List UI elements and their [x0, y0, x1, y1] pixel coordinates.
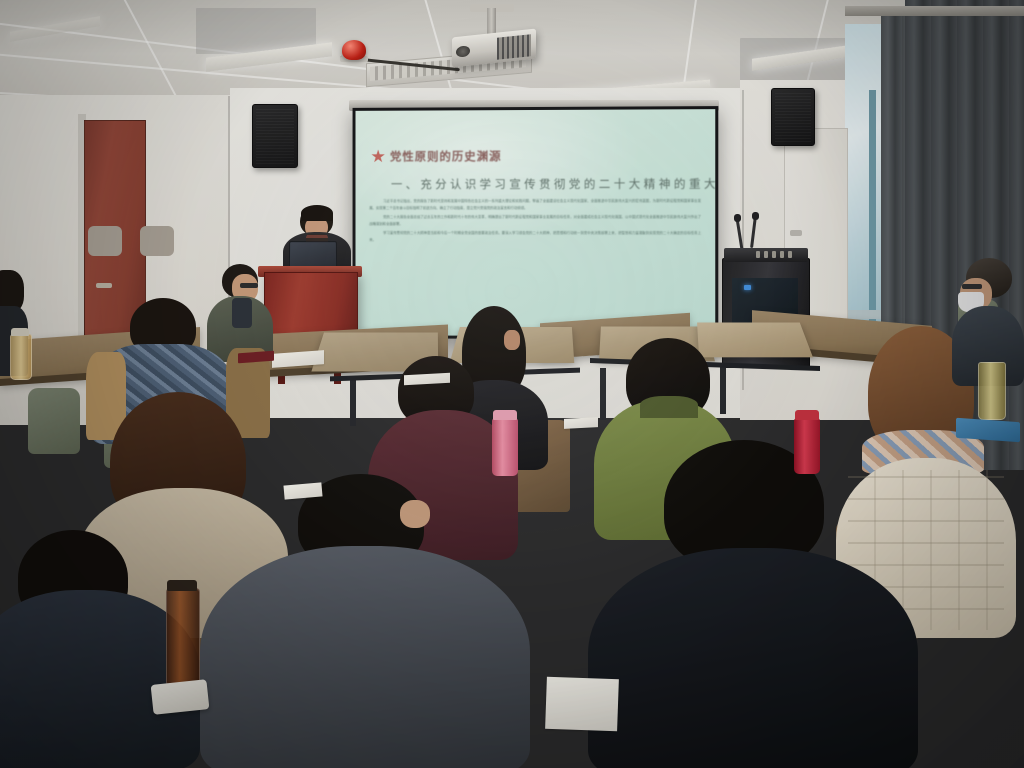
- table-leg: [720, 364, 726, 414]
- folding-table-panel-far-right: [697, 322, 813, 357]
- mixer-fader-3[interactable]: [772, 251, 776, 258]
- slide-body-text: 习近平总书记指出，党的报告了新时代坚持和发展中国特色社会主义的一系列重大理论和实…: [369, 198, 701, 247]
- slide-paragraph: 学习宣传贯彻党的二十大精神是当前和今后一个时期全党全国的首要政治任务。要深入学习…: [369, 230, 701, 243]
- tea-bottle-pink-center[interactable]: [492, 418, 518, 476]
- tea-bottle-foreground[interactable]: [166, 588, 200, 686]
- meeting-room-photograph: 党性原则的历史渊源 一、充分认识学习宣传贯彻党的二十大精神的重大意义 习近平总书…: [0, 0, 1024, 768]
- wall-speaker-right: [771, 88, 815, 146]
- face-profile: [400, 500, 430, 528]
- slide-title: 党性原则的历史渊源: [390, 148, 502, 164]
- tea-bottle-left[interactable]: [10, 334, 32, 380]
- mixer-fader-2[interactable]: [764, 251, 768, 258]
- table-leg: [350, 376, 356, 426]
- glasses-icon: [962, 284, 982, 289]
- bottle-cap[interactable]: [493, 410, 517, 420]
- documents-center-right[interactable]: [564, 417, 598, 429]
- glasses-icon: [240, 283, 258, 288]
- antenna-tip-right-icon: [752, 212, 759, 220]
- gray-coat: [200, 546, 530, 768]
- chair-distant-1[interactable]: [88, 226, 122, 256]
- red-star-icon: [371, 149, 385, 163]
- face-profile: [504, 330, 520, 350]
- wall-speaker-left: [252, 104, 298, 168]
- sweater-collar: [640, 396, 698, 418]
- bottle-cap[interactable]: [167, 580, 197, 591]
- slide-title-row: 党性原则的历史渊源: [371, 148, 501, 164]
- tea-bottle-red-right[interactable]: [794, 418, 820, 474]
- red-alarm-dome-icon: [342, 40, 366, 60]
- rack-power-led-icon: [744, 285, 751, 290]
- door-handle-icon[interactable]: [96, 283, 112, 288]
- door-handle-icon-right[interactable]: [790, 230, 802, 236]
- bottle-cap[interactable]: [11, 328, 29, 336]
- table-leg: [600, 368, 606, 420]
- mixer-fader-1[interactable]: [756, 251, 760, 258]
- bottle-cap[interactable]: [795, 410, 819, 420]
- chair-distant-2[interactable]: [140, 226, 174, 256]
- presenter-hair-top: [301, 205, 333, 221]
- tea-glass-far-right[interactable]: [978, 362, 1006, 420]
- chair-back-left[interactable]: [28, 388, 80, 454]
- window-mullion: [869, 90, 876, 326]
- mixer-fader-5[interactable]: [788, 251, 792, 258]
- slide-heading: 一、充分认识学习宣传贯彻党的二十大精神的重大意义: [391, 176, 715, 193]
- document-foreground[interactable]: [545, 677, 619, 731]
- projector-vent-icon: [497, 34, 531, 60]
- speaker-grill-icon-right: [775, 92, 811, 142]
- presentation-slide: 党性原则的历史渊源 一、充分认识学习宣传贯彻党的二十大精神的重大意义 习近平总书…: [356, 109, 716, 337]
- slide-paragraph: 习近平总书记指出，党的报告了新时代坚持和发展中国特色社会主义的一系列重大理论和实…: [369, 198, 701, 211]
- inner-shirt: [232, 298, 252, 328]
- antenna-tip-left-icon: [734, 214, 741, 222]
- projection-screen: 党性原则的历史渊源 一、充分认识学习宣传贯彻党的二十大精神的重大意义 习近平总书…: [353, 106, 719, 340]
- dark-jacket: [588, 548, 918, 768]
- mixer-fader-4[interactable]: [780, 251, 784, 258]
- slide-paragraph: 党的二十大报告全面总结了过去五年的工作和新时代十年的伟大变革，明确提出了新时代新…: [369, 214, 701, 227]
- curtain-rod: [845, 6, 1024, 16]
- white-smartphone[interactable]: [151, 679, 210, 715]
- speaker-grill-icon: [256, 108, 294, 164]
